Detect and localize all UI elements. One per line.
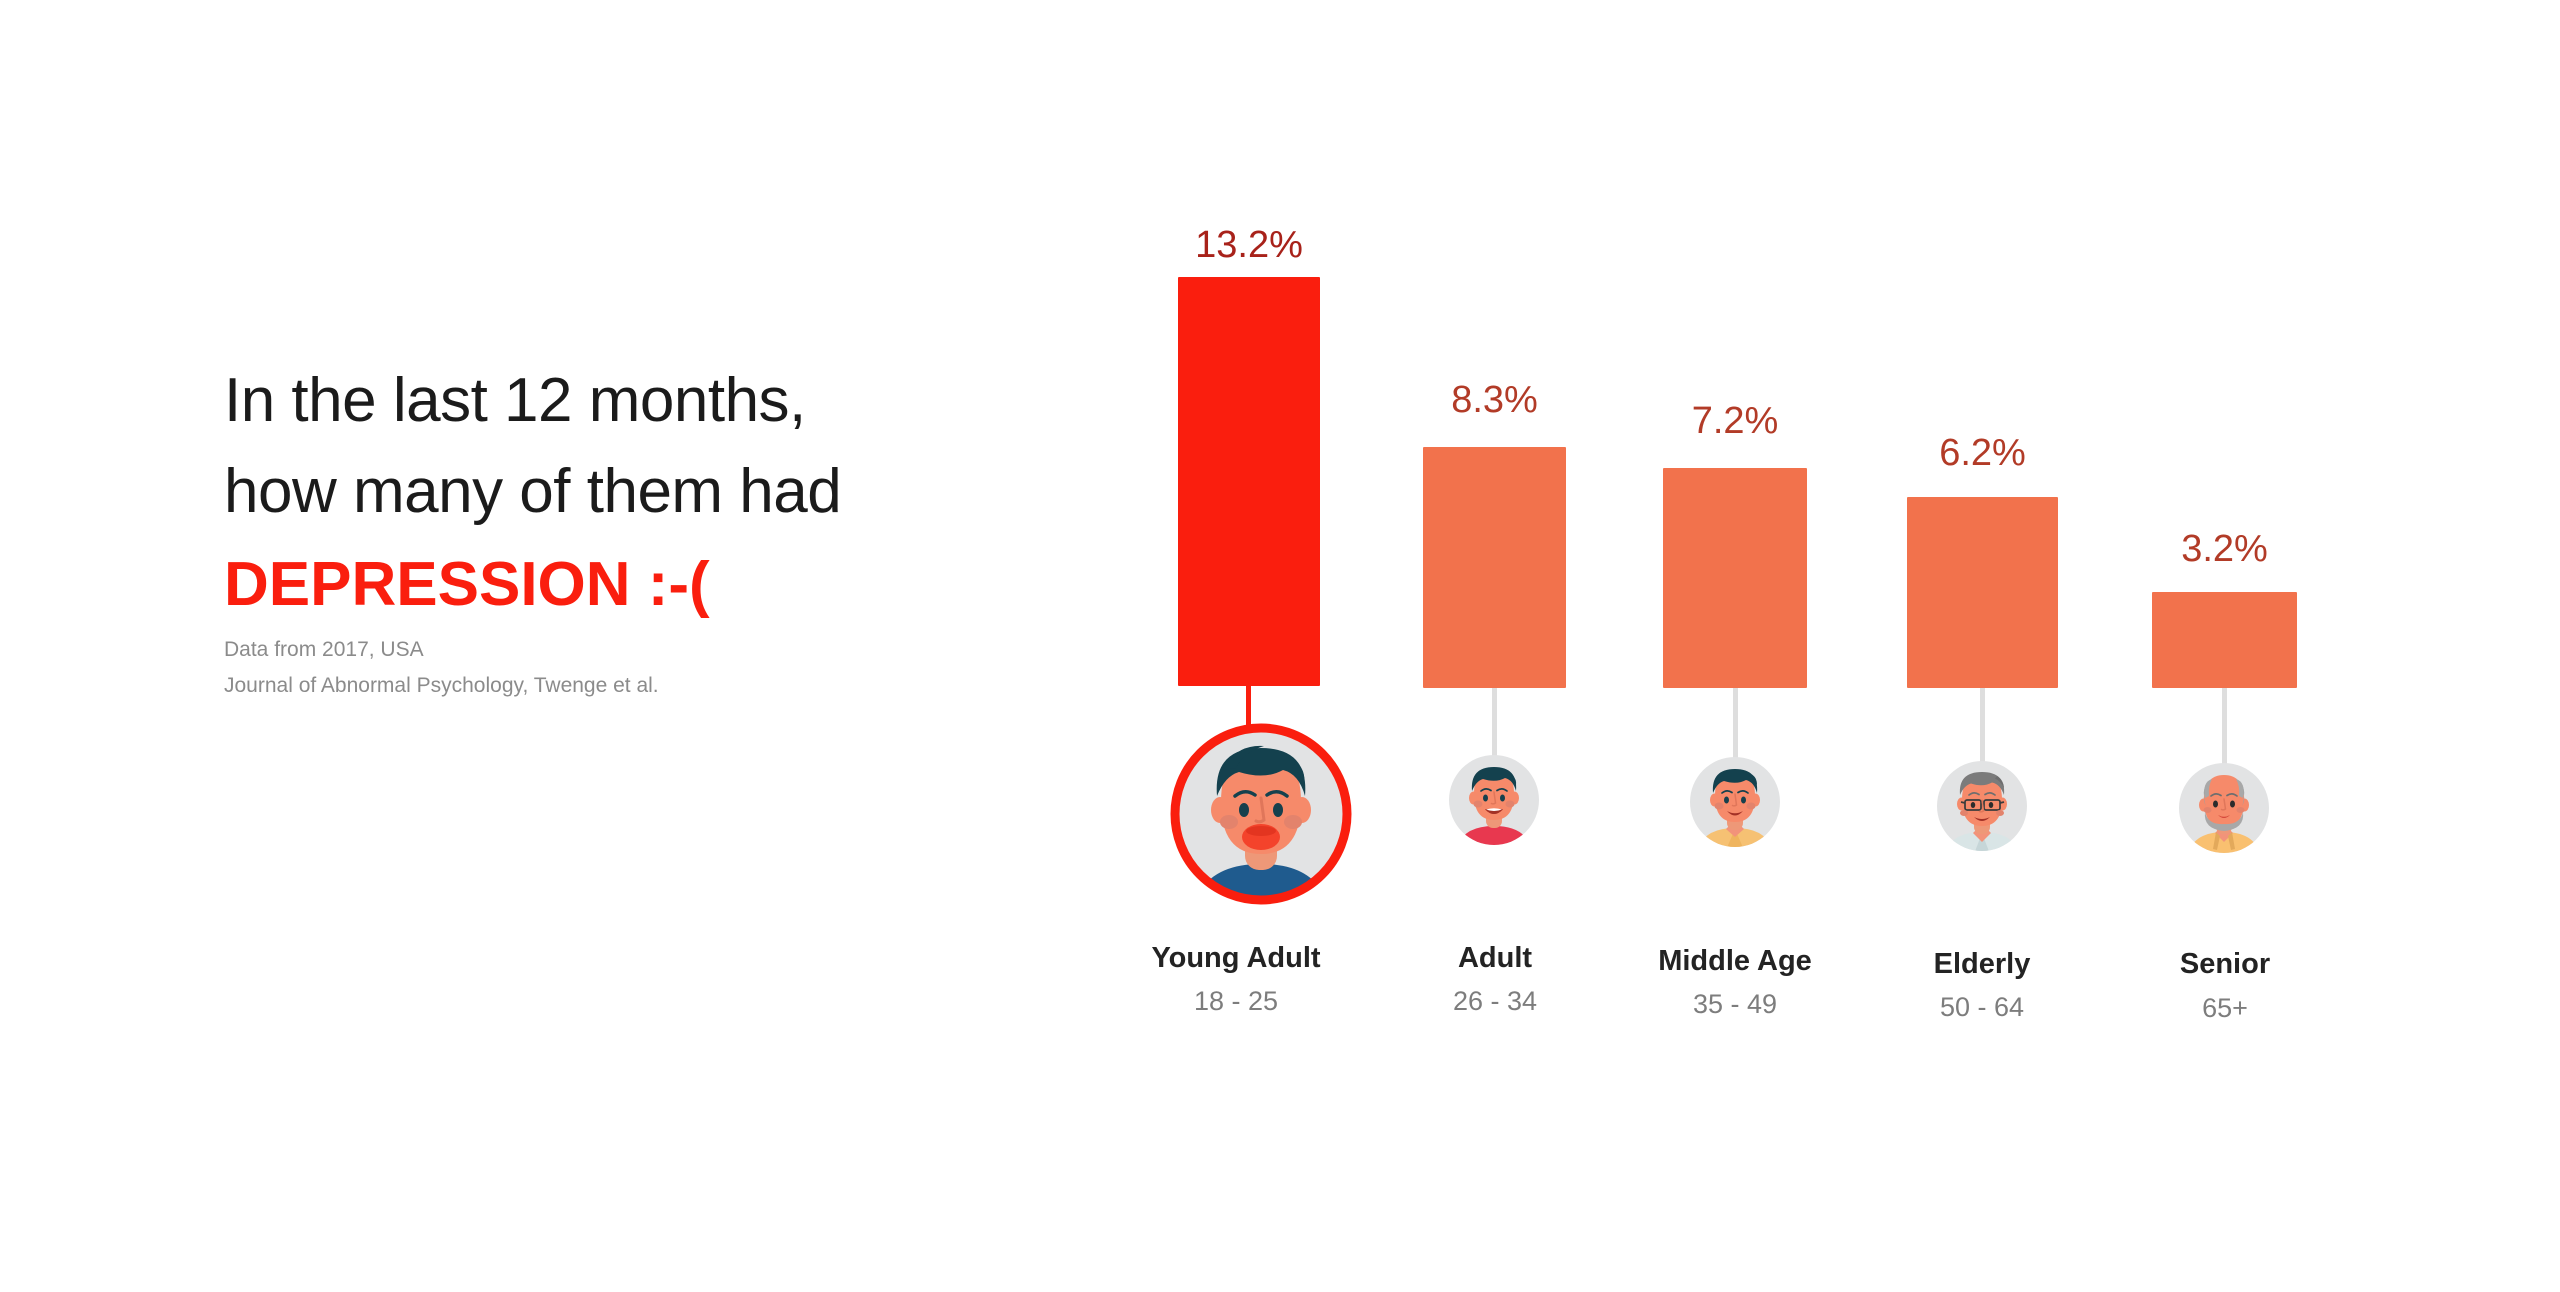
category-range-young-adult: 18 - 25: [1141, 986, 1331, 1016]
bar-value-label-adult: 8.3%: [1423, 381, 1566, 419]
bar-stem-senior: [2222, 688, 2227, 764]
category-range-middle-age: 35 - 49: [1640, 989, 1830, 1019]
avatar-senior[interactable]: [2176, 760, 2272, 856]
category-range-elderly: 50 - 64: [1887, 992, 2077, 1022]
category-name-elderly: Elderly: [1887, 948, 2077, 980]
bar-stem-adult: [1492, 688, 1497, 756]
category-name-middle-age: Middle Age: [1640, 945, 1830, 977]
bar-chart: 13.2%: [0, 0, 2560, 1292]
avatar-young-adult[interactable]: [1165, 718, 1357, 910]
avatar-elderly[interactable]: [1934, 758, 2030, 854]
bar-value-label-middle-age: 7.2%: [1663, 402, 1807, 440]
category-range-adult: 26 - 34: [1400, 986, 1590, 1016]
category-name-young-adult: Young Adult: [1141, 942, 1331, 974]
bar-value-label-elderly: 6.2%: [1907, 434, 2058, 472]
avatar-adult[interactable]: [1446, 752, 1542, 848]
bar-stem-elderly: [1980, 688, 1985, 762]
bar-value-label-senior: 3.2%: [2152, 530, 2297, 568]
category-name-adult: Adult: [1400, 942, 1590, 974]
avatar-middle-age[interactable]: [1687, 754, 1783, 850]
bar-elderly: [1907, 497, 2058, 688]
bar-senior: [2152, 592, 2297, 688]
bar-middle-age: [1663, 468, 1807, 688]
bar-young-adult: [1178, 277, 1320, 686]
bar-value-label-young-adult: 13.2%: [1178, 226, 1320, 264]
category-range-senior: 65+: [2130, 993, 2320, 1023]
infographic-canvas: In the last 12 months, how many of them …: [0, 0, 2560, 1292]
bar-stem-middle-age: [1733, 688, 1738, 758]
category-name-senior: Senior: [2130, 948, 2320, 980]
bar-adult: [1423, 447, 1566, 688]
